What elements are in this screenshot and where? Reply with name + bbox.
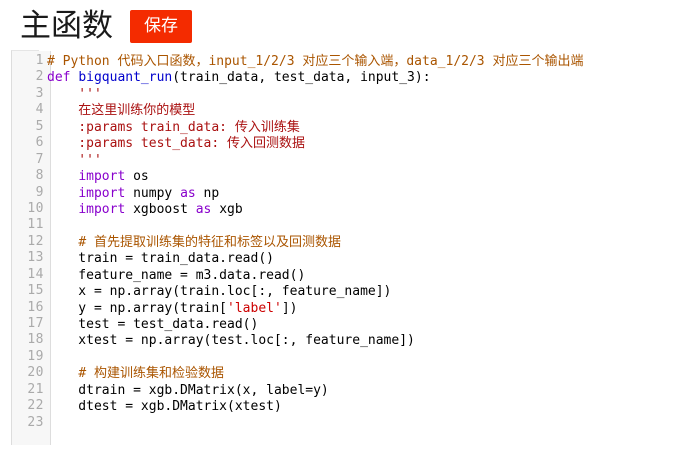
code-editor[interactable]: 1234567891011121314151617181920212223 # … [0, 50, 682, 446]
code-token: import [78, 186, 125, 201]
line-number: 5 [17, 119, 44, 135]
code-token: xtest = np.array(test.loc[:, feature_nam… [47, 333, 415, 348]
code-line[interactable]: :params train_data: 传入训练集 [47, 120, 682, 136]
code-line[interactable]: dtrain = xgb.DMatrix(x, label=y) [47, 383, 682, 399]
code-line[interactable]: # 首先提取训练集的特征和标签以及回测数据 [47, 235, 682, 251]
code-token: test = test_data.read() [47, 317, 258, 332]
code-line[interactable]: dtest = xgb.DMatrix(xtest) [47, 399, 682, 415]
code-line[interactable]: test = test_data.read() [47, 317, 682, 333]
line-number: 10 [17, 201, 44, 217]
code-content-pane[interactable]: # Python 代码入口函数，input_1/2/3 对应三个输入端，data… [39, 50, 682, 446]
code-line[interactable] [47, 416, 682, 432]
line-number: 17 [17, 316, 44, 332]
line-number: 8 [17, 168, 44, 184]
code-token: # 首先提取训练集的特征和标签以及回测数据 [78, 235, 341, 250]
code-token [47, 186, 78, 201]
code-token: train = train_data.read() [47, 251, 274, 266]
code-token: ]) [282, 301, 298, 316]
code-token: :params test_data: 传入回测数据 [47, 136, 305, 151]
code-token: :params train_data: 传入训练集 [47, 120, 300, 135]
code-token [47, 235, 78, 250]
code-token: feature_name = m3.data.read() [47, 268, 305, 283]
code-line[interactable]: def bigquant_run(train_data, test_data, … [47, 70, 682, 86]
code-token: (train_data, test_data, input_3): [172, 70, 430, 85]
code-token: 'label' [227, 301, 282, 316]
code-token: # Python 代码入口函数，input_1/2/3 对应三个输入端，data… [47, 54, 583, 69]
code-token: as [180, 186, 196, 201]
code-token: xgboost [125, 202, 195, 217]
line-number: 7 [17, 152, 44, 168]
line-number: 13 [17, 250, 44, 266]
code-editor-table: 1234567891011121314151617181920212223 # … [0, 50, 682, 446]
code-token: dtest = xgb.DMatrix(xtest) [47, 399, 282, 414]
code-token: numpy [125, 186, 180, 201]
code-line[interactable]: :params test_data: 传入回测数据 [47, 136, 682, 152]
code-token: xgb [211, 202, 242, 217]
code-token: dtrain = xgb.DMatrix(x, label=y) [47, 383, 329, 398]
code-line[interactable]: # 构建训练集和检验数据 [47, 366, 682, 382]
code-line[interactable]: train = train_data.read() [47, 251, 682, 267]
code-line[interactable] [47, 350, 682, 366]
code-line[interactable]: ''' [47, 87, 682, 103]
save-button[interactable]: 保存 [130, 10, 192, 43]
page-title: 主函数 [20, 8, 113, 44]
code-token: x = np.array(train.loc[:, feature_name]) [47, 284, 391, 299]
code-line[interactable]: xtest = np.array(test.loc[:, feature_nam… [47, 333, 682, 349]
code-token: os [125, 169, 148, 184]
code-token: ''' [47, 153, 102, 168]
line-number: 11 [17, 217, 44, 233]
line-number: 19 [17, 349, 44, 365]
code-line[interactable]: y = np.array(train['label']) [47, 301, 682, 317]
page-header: 主函数 保存 [0, 0, 682, 50]
line-number: 9 [17, 185, 44, 201]
code-token [47, 169, 78, 184]
code-line[interactable]: feature_name = m3.data.read() [47, 268, 682, 284]
line-number: 21 [17, 382, 44, 398]
code-line[interactable]: import os [47, 169, 682, 185]
code-token [47, 202, 78, 217]
code-token: 在这里训练你的模型 [47, 103, 195, 118]
line-number: 14 [17, 267, 44, 283]
code-line[interactable]: 在这里训练你的模型 [47, 103, 682, 119]
line-number: 20 [17, 365, 44, 381]
line-number: 15 [17, 283, 44, 299]
line-number: 23 [17, 415, 44, 431]
code-line[interactable]: import numpy as np [47, 186, 682, 202]
line-number: 6 [17, 135, 44, 151]
code-token: def [47, 70, 78, 85]
line-number: 1 [17, 53, 44, 69]
line-number: 12 [17, 234, 44, 250]
code-line[interactable]: import xgboost as xgb [47, 202, 682, 218]
code-token [47, 366, 78, 381]
code-token: ''' [47, 87, 102, 102]
line-number: 22 [17, 398, 44, 414]
code-token: np [196, 186, 219, 201]
code-line[interactable] [47, 218, 682, 234]
code-token: import [78, 202, 125, 217]
line-number: 3 [17, 86, 44, 102]
line-number: 16 [17, 300, 44, 316]
code-token: as [196, 202, 212, 217]
line-number: 4 [17, 102, 44, 118]
code-line[interactable]: # Python 代码入口函数，input_1/2/3 对应三个输入端，data… [47, 54, 682, 70]
code-token: # 构建训练集和检验数据 [78, 366, 224, 381]
code-line[interactable]: x = np.array(train.loc[:, feature_name]) [47, 284, 682, 300]
code-token: y = np.array(train[ [47, 301, 227, 316]
line-number: 18 [17, 332, 44, 348]
code-token: import [78, 169, 125, 184]
line-number: 2 [17, 69, 44, 85]
code-line[interactable]: ''' [47, 153, 682, 169]
code-token: bigquant_run [78, 70, 172, 85]
